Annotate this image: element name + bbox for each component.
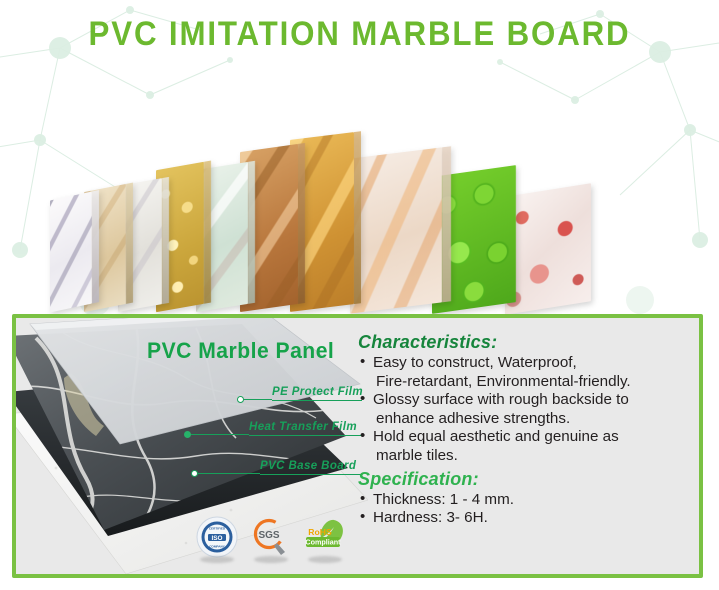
callout-leader-pvc-base-board bbox=[198, 473, 260, 474]
rohs-badge-sub-text: Compliant bbox=[305, 538, 341, 547]
sgs-badge: SGS bbox=[250, 516, 292, 558]
panel-subtitle: PVC Marble Panel bbox=[147, 338, 334, 364]
callout-dot-pvc-base-board bbox=[191, 470, 198, 477]
specification-heading: Specification: bbox=[358, 469, 698, 490]
specification-item-1: Hardness: 3- 6H. bbox=[373, 509, 488, 526]
characteristics-item-2-line1: Hold equal aesthetic and genuine as bbox=[373, 428, 619, 445]
callout-heat-transfer-film: Heat Transfer Film bbox=[249, 421, 362, 436]
callout-rule-pvc-base-board bbox=[260, 474, 362, 475]
certification-badges: ISO CERTIFIED COMPANY SGS RoHS Compliant bbox=[196, 516, 346, 562]
characteristics-item-0-line1: Easy to construct, Waterproof, bbox=[373, 354, 577, 371]
features-copy: Characteristics: Easy to construct, Wate… bbox=[358, 332, 698, 528]
list-item: Thickness: 1 - 4 mm. bbox=[358, 491, 698, 510]
characteristics-list: Easy to construct, Waterproof, Fire-reta… bbox=[358, 354, 698, 466]
board-peach-onyx bbox=[350, 147, 442, 313]
list-item: Hold equal aesthetic and genuine as marb… bbox=[358, 428, 698, 465]
callout-label-heat-transfer-film: Heat Transfer Film bbox=[249, 421, 362, 435]
sgs-badge-text: SGS bbox=[258, 530, 279, 541]
callout-pvc-base-board: PVC Base Board bbox=[260, 460, 362, 475]
callout-pe-protect-film: PE Protect Film bbox=[272, 386, 362, 401]
iso-badge-bottom-text: COMPANY bbox=[209, 544, 226, 548]
specification-list: Thickness: 1 - 4 mm. Hardness: 3- 6H. bbox=[358, 491, 698, 528]
poster-root: PVC IMITATION MARBLE BOARD bbox=[0, 0, 719, 590]
iso-badge: ISO CERTIFIED COMPANY bbox=[196, 516, 238, 558]
callout-rule-heat-transfer-film bbox=[249, 435, 362, 436]
callout-rule-pe-protect-film bbox=[272, 400, 362, 401]
characteristics-item-1-line2: enhance adhesive strengths. bbox=[373, 410, 698, 429]
characteristics-heading: Characteristics: bbox=[358, 332, 698, 353]
iso-badge-top-text: CERTIFIED bbox=[209, 527, 226, 531]
characteristics-item-1-line1: Glossy surface with rough backside to bbox=[373, 391, 629, 408]
callout-leader-heat-transfer-film bbox=[191, 434, 249, 435]
rohs-badge: RoHS Compliant bbox=[304, 516, 348, 558]
rohs-badge-text: RoHS bbox=[308, 527, 332, 537]
characteristics-item-2-line2: marble tiles. bbox=[373, 447, 698, 466]
page-title: PVC IMITATION MARBLE BOARD bbox=[89, 14, 631, 54]
callout-leader-pe-protect-film bbox=[244, 399, 272, 400]
list-item: Hardness: 3- 6H. bbox=[358, 509, 698, 528]
list-item: Glossy surface with rough backside to en… bbox=[358, 391, 698, 428]
iso-badge-text: ISO bbox=[211, 535, 222, 542]
characteristics-item-0-line2: Fire-retardant, Environmental-friendly. bbox=[373, 373, 698, 392]
page-title-wrap: PVC IMITATION MARBLE BOARD bbox=[0, 14, 719, 54]
specification-item-0: Thickness: 1 - 4 mm. bbox=[373, 491, 514, 508]
callout-dot-heat-transfer-film bbox=[184, 431, 191, 438]
callout-label-pvc-base-board: PVC Base Board bbox=[260, 460, 362, 474]
callout-label-pe-protect-film: PE Protect Film bbox=[272, 386, 362, 400]
board-red-white-floral bbox=[505, 183, 591, 315]
callout-dot-pe-protect-film bbox=[237, 396, 244, 403]
marble-board-fan bbox=[0, 68, 719, 308]
board-white-veined-marble bbox=[50, 192, 92, 313]
list-item: Easy to construct, Waterproof, Fire-reta… bbox=[358, 354, 698, 391]
